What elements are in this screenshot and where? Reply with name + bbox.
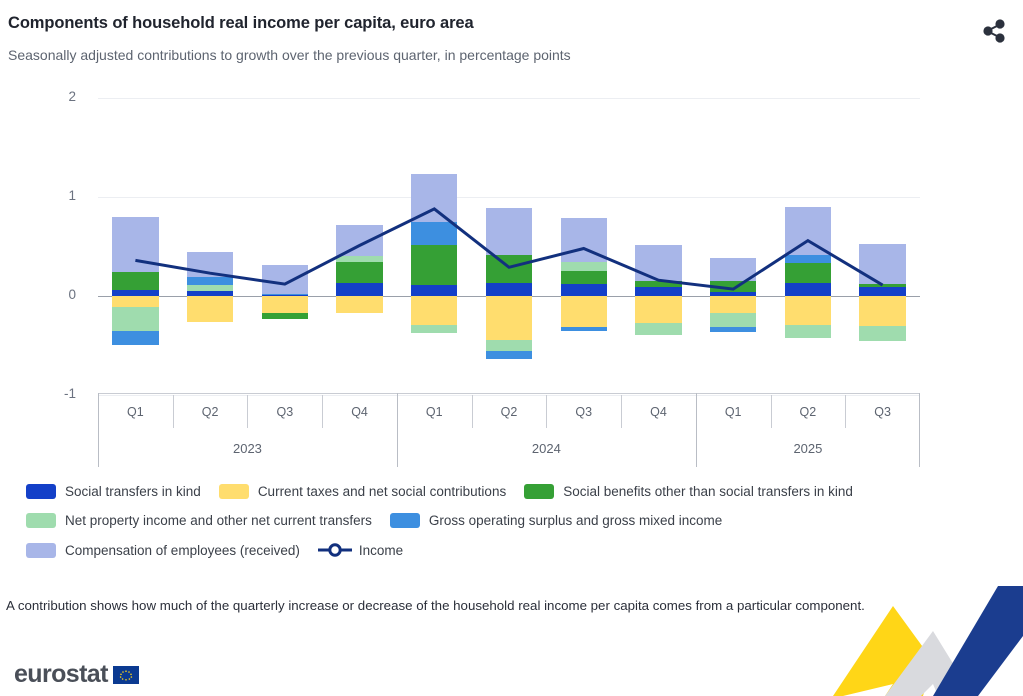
- x-axis-quarter-label: Q3: [546, 393, 621, 430]
- legend-item[interactable]: Net property income and other net curren…: [26, 513, 372, 528]
- legend-label: Income: [359, 543, 403, 558]
- eu-flag-icon: [113, 666, 139, 684]
- axis-separator: [771, 395, 772, 428]
- axis-year-separator: [397, 393, 398, 467]
- x-axis-quarter-label: Q1: [397, 393, 472, 430]
- legend-label: Social transfers in kind: [65, 484, 201, 499]
- legend-item[interactable]: Compensation of employees (received): [26, 543, 300, 558]
- x-axis-quarter-label: Q2: [771, 393, 846, 430]
- y-axis-tick-label: 0: [20, 287, 76, 302]
- axis-separator: [621, 395, 622, 428]
- x-axis-quarter-label: Q4: [621, 393, 696, 430]
- legend-label: Gross operating surplus and gross mixed …: [429, 513, 722, 528]
- legend-swatch: [26, 543, 56, 558]
- x-axis-quarter-label: Q3: [845, 393, 920, 430]
- page-subtitle: Seasonally adjusted contributions to gro…: [8, 47, 571, 63]
- legend-swatch: [26, 513, 56, 528]
- legend-row: Social transfers in kindCurrent taxes an…: [26, 484, 1016, 499]
- x-axis-quarter-label: Q2: [472, 393, 547, 430]
- x-axis-year-label: 2024: [397, 430, 696, 467]
- income-line-marker-icon: [318, 542, 352, 558]
- logo-text: eurostat: [14, 660, 108, 689]
- x-axis-quarter-label: Q4: [322, 393, 397, 430]
- legend-item[interactable]: Social benefits other than social transf…: [524, 484, 853, 499]
- axis-separator: [845, 395, 846, 428]
- footnote: A contribution shows how much of the qua…: [6, 598, 906, 615]
- brand-swoosh: [773, 576, 1023, 696]
- x-axis: Q1Q2Q3Q4Q1Q2Q3Q4Q1Q2Q3 202320242025: [98, 393, 920, 467]
- x-axis-quarters: Q1Q2Q3Q4Q1Q2Q3Q4Q1Q2Q3: [98, 393, 920, 430]
- legend-item[interactable]: Gross operating surplus and gross mixed …: [390, 513, 722, 528]
- x-axis-quarter-label: Q1: [696, 393, 771, 430]
- y-axis-tick-label: -1: [20, 386, 76, 401]
- axis-separator: [472, 395, 473, 428]
- legend-label: Current taxes and net social contributio…: [258, 484, 506, 499]
- legend-label: Net property income and other net curren…: [65, 513, 372, 528]
- plot-area: 210-1 Q1Q2Q3Q4Q1Q2Q3Q4Q1Q2Q3 20232024202…: [0, 80, 1023, 470]
- axis-year-separator: [696, 393, 697, 467]
- legend-label: Compensation of employees (received): [65, 543, 300, 558]
- legend-item[interactable]: Social transfers in kind: [26, 484, 201, 499]
- eurostat-logo: eurostat: [14, 660, 139, 689]
- legend-row: Net property income and other net curren…: [26, 513, 1016, 528]
- legend: Social transfers in kindCurrent taxes an…: [26, 484, 1016, 572]
- axis-separator: [546, 395, 547, 428]
- legend-swatch: [524, 484, 554, 499]
- legend-item[interactable]: Current taxes and net social contributio…: [219, 484, 506, 499]
- legend-swatch: [219, 484, 249, 499]
- x-axis-quarter-label: Q3: [247, 393, 322, 430]
- legend-label: Social benefits other than social transf…: [563, 484, 853, 499]
- axis-separator: [322, 395, 323, 428]
- page-title: Components of household real income per …: [8, 14, 474, 33]
- x-axis-year-label: 2023: [98, 430, 397, 467]
- axis-separator: [173, 395, 174, 428]
- x-axis-years: 202320242025: [98, 430, 920, 467]
- x-axis-quarter-label: Q1: [98, 393, 173, 430]
- share-icon[interactable]: [979, 16, 1013, 46]
- legend-swatch: [26, 484, 56, 499]
- legend-item[interactable]: Income: [318, 542, 403, 558]
- legend-row: Compensation of employees (received)Inco…: [26, 542, 1016, 558]
- y-axis-tick-label: 1: [20, 188, 76, 203]
- y-axis-tick-label: 2: [20, 89, 76, 104]
- axis-year-separator: [919, 393, 920, 467]
- chart-page: Components of household real income per …: [0, 0, 1023, 696]
- legend-swatch: [390, 513, 420, 528]
- axis-year-separator: [98, 393, 99, 467]
- axis-separator: [247, 395, 248, 428]
- x-axis-year-label: 2025: [696, 430, 920, 467]
- x-axis-quarter-label: Q2: [173, 393, 248, 430]
- income-line: [135, 209, 882, 289]
